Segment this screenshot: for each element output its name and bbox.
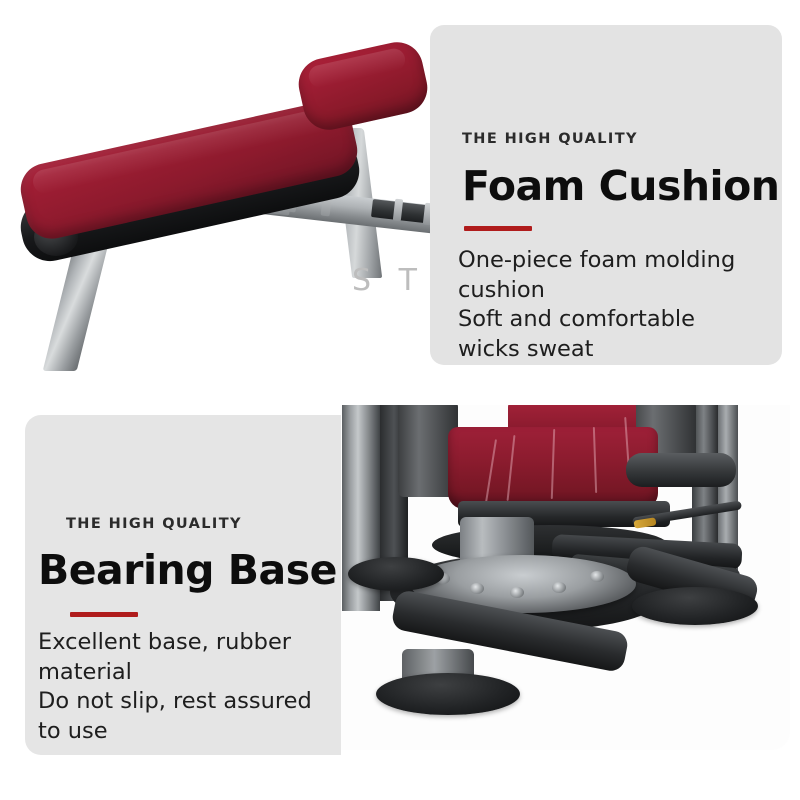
body-copy-foam-cushion: One-piece foam molding cushion Soft and … xyxy=(458,246,778,365)
bearing-base-illustration xyxy=(340,405,790,750)
bearing-bolt xyxy=(590,571,604,582)
bench-head-cushion xyxy=(294,37,433,135)
accent-rule-foam-cushion xyxy=(464,226,532,231)
rubber-foot xyxy=(348,557,444,591)
bench-illustration xyxy=(0,0,452,398)
bearing-bolt xyxy=(552,582,566,593)
headline-bearing-base: Bearing Base xyxy=(38,550,337,591)
product-photo-foam-cushion: S T L F xyxy=(0,0,452,398)
headline-foam-cushion: Foam Cushion xyxy=(462,166,779,207)
section-bearing-base: THE HIGH QUALITY Bearing Base Excellent … xyxy=(0,398,800,800)
product-photo-bearing-base xyxy=(340,405,790,750)
product-feature-page: S T L F THE HIGH QUALITY Foam Cushion On… xyxy=(0,0,800,800)
body-copy-bearing-base: Excellent base, rubber material Do not s… xyxy=(38,628,338,747)
eyebrow-foam-cushion: THE HIGH QUALITY xyxy=(462,131,638,147)
rubber-foot xyxy=(376,673,520,715)
bearing-bolt xyxy=(510,587,524,598)
eyebrow-bearing-base: THE HIGH QUALITY xyxy=(66,516,242,532)
section-foam-cushion: S T L F THE HIGH QUALITY Foam Cushion On… xyxy=(0,0,800,398)
accent-rule-bearing-base xyxy=(70,612,138,617)
rubber-foot xyxy=(632,587,758,625)
bearing-bolt xyxy=(470,583,484,594)
cross-tube xyxy=(626,453,736,487)
